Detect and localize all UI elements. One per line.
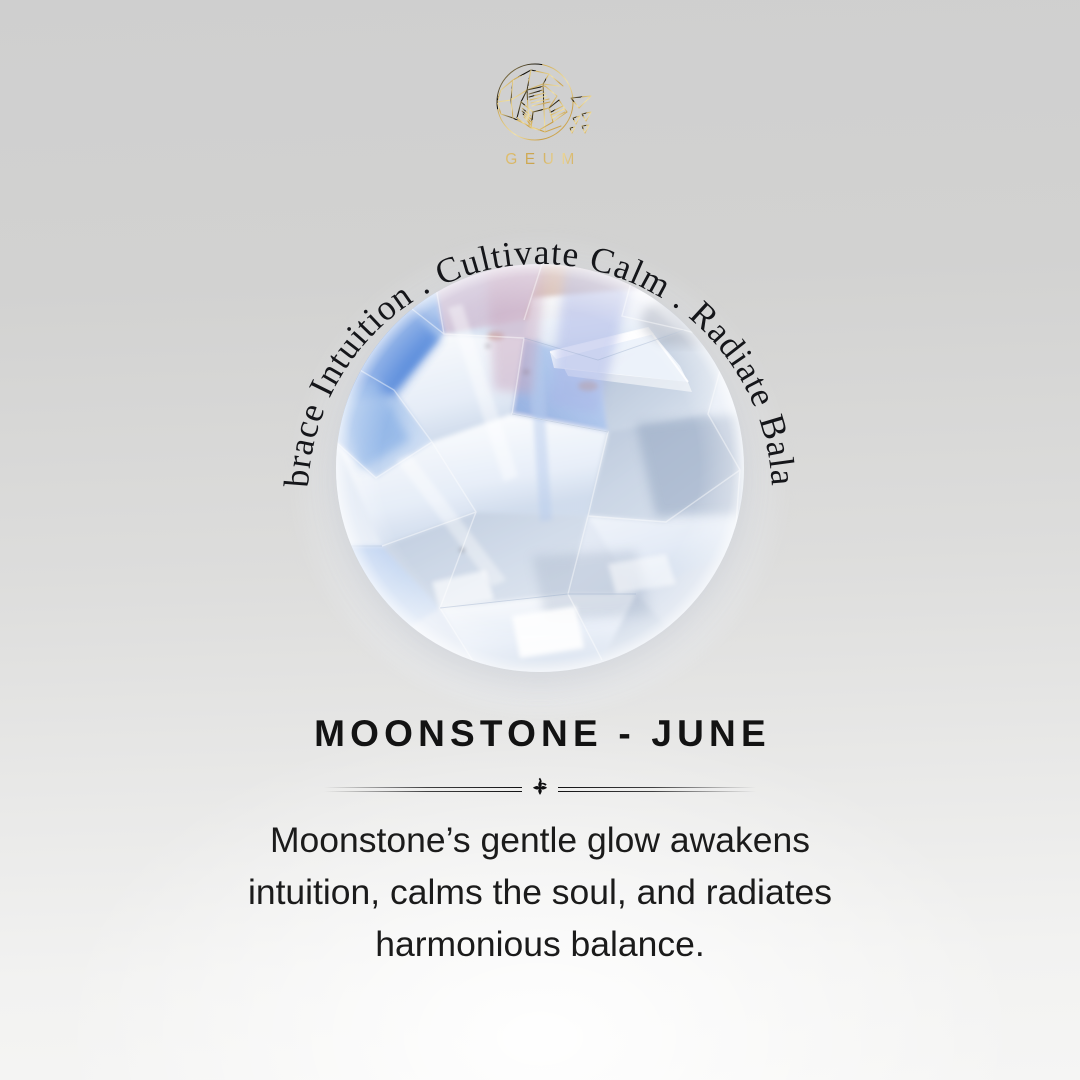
- page-title: MOONSTONE - JUNE: [0, 713, 1080, 755]
- divider-rule-left: [324, 786, 522, 793]
- brand-wordmark: GEUM: [498, 151, 582, 169]
- decorative-divider: [324, 773, 756, 805]
- faceted-gem-logo-icon: [487, 56, 593, 150]
- description-text: Moonstone’s gentle glow awakens intuitio…: [210, 814, 870, 970]
- gemstone-figure: [336, 264, 744, 672]
- quatrefoil-ornament-icon: [525, 774, 555, 804]
- brand-logo: GEUM: [0, 56, 1080, 169]
- birthstone-card: GEUM: [0, 0, 1080, 1080]
- moonstone-gem-image: [336, 264, 744, 672]
- divider-rule-right: [558, 786, 756, 793]
